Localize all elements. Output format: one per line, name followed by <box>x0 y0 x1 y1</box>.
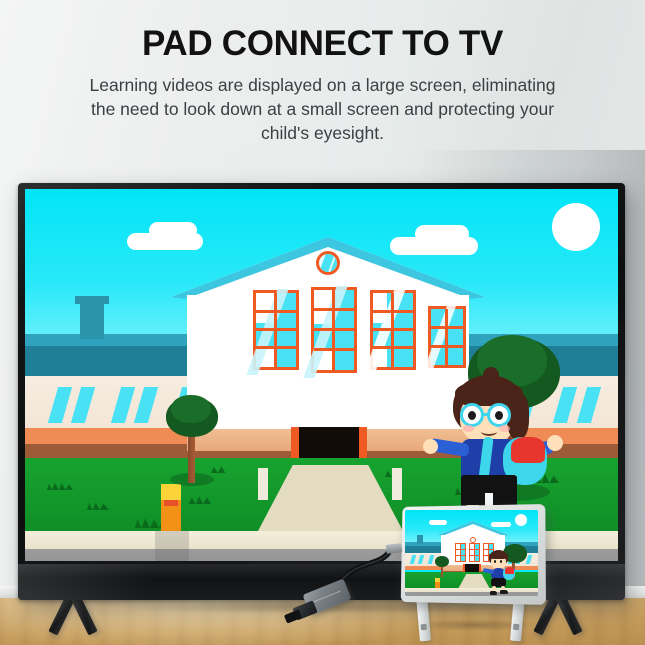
mailbox-slot <box>164 500 178 506</box>
boy-eye-right <box>495 411 503 420</box>
tablet-tree-left <box>435 556 449 567</box>
usb-c-connector <box>386 543 403 554</box>
tablet-school-window-2 <box>469 543 480 562</box>
chimney-cap <box>75 296 109 304</box>
school-window-3 <box>370 290 416 370</box>
tablet-school-roof <box>438 521 508 536</box>
tablet-screen[interactable] <box>405 510 538 596</box>
mailbox-shadow <box>155 531 189 561</box>
header: PAD CONNECT TO TV Learning videos are di… <box>0 0 645 145</box>
tablet-scene <box>405 510 538 596</box>
boy-glasses-bridge <box>483 413 489 416</box>
tablet-boy-arm-left <box>483 568 495 574</box>
tablet-mailbox-top <box>435 578 440 582</box>
sun <box>552 203 600 251</box>
tablet-chimney <box>417 535 423 544</box>
tablet-floor-shadow <box>390 617 560 633</box>
tablet[interactable] <box>399 505 544 603</box>
page-title: PAD CONNECT TO TV <box>0 26 645 61</box>
walkway-post-right <box>392 468 402 500</box>
tablet-school-window-1 <box>455 543 466 562</box>
tablet-boy-eye-right <box>500 560 502 563</box>
page-subtitle: Learning videos are displayed on a large… <box>0 74 645 145</box>
boy-cheek-left <box>463 425 474 432</box>
school-round-window <box>316 251 340 275</box>
tablet-stand-leg-left-nub <box>421 624 428 631</box>
tablet-stand-leg-right-nub <box>513 624 520 631</box>
boy-backpack-flap <box>511 437 545 463</box>
school-window-1 <box>253 290 299 370</box>
tablet-boy-shoe-right <box>500 590 508 594</box>
chimney <box>80 301 104 339</box>
tablet-school-roof-svg <box>438 521 508 536</box>
tablet-boy-eye-left <box>494 560 496 563</box>
adapter-seam <box>313 590 341 602</box>
tree-crown-left-hl <box>171 395 211 423</box>
walkway-post-left <box>258 468 268 500</box>
mailbox-top <box>161 484 181 500</box>
tablet-boy-backpack-flap <box>505 567 514 574</box>
tablet-boy-fringe <box>489 552 508 559</box>
school-window-side <box>428 306 466 368</box>
tablet-boy-shoe-left <box>490 591 497 595</box>
tablet-sun <box>515 514 527 526</box>
boy-eye-left <box>468 411 476 420</box>
tablet-boy-character <box>481 550 521 596</box>
school-window-2 <box>311 287 357 373</box>
boy-mouth <box>481 427 497 436</box>
boy-hand-left <box>423 439 438 454</box>
boy-cheek-right <box>499 425 510 432</box>
boy-hand-right <box>547 435 563 451</box>
